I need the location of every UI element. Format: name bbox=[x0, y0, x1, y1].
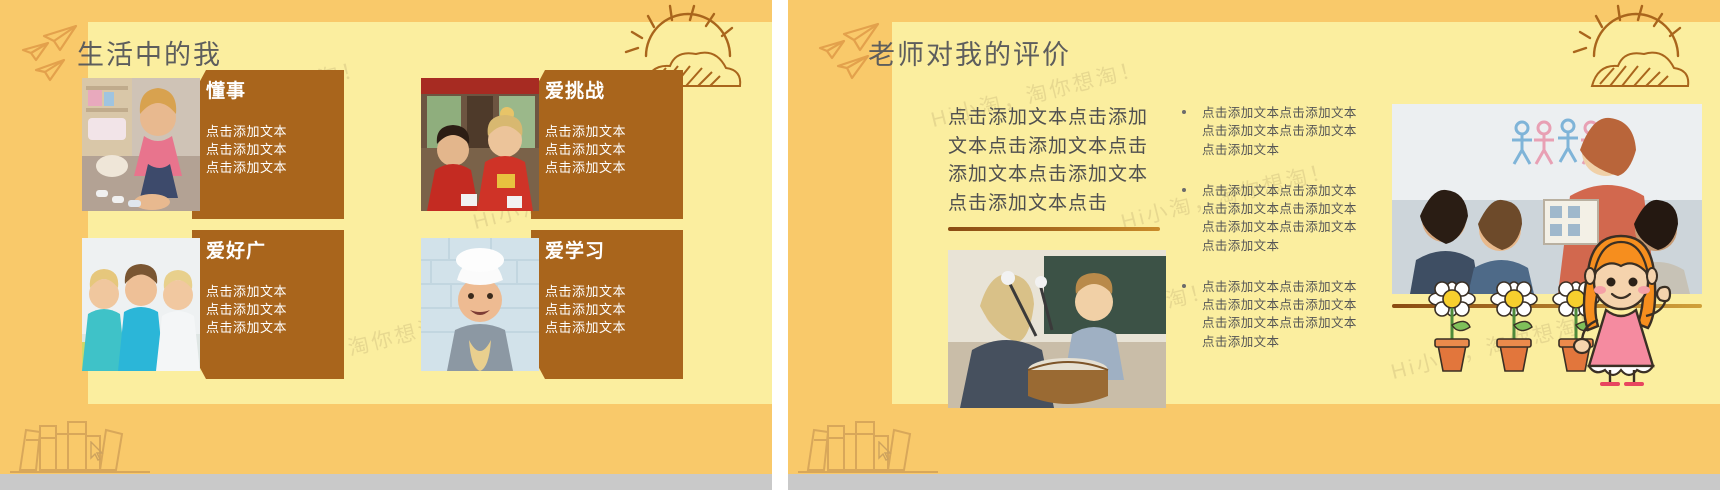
bullet-line: 点击添加文本 bbox=[1202, 237, 1390, 255]
card-text: 爱好广 点击添加文本 点击添加文本 点击添加文本 bbox=[206, 242, 346, 337]
paragraph-line: 点击添加文本点击添加 bbox=[948, 104, 1170, 133]
bullet-line: 点击添加文本点击添加文本 bbox=[1202, 104, 1390, 122]
bullet-line: 点击添加文本点击添加文本 bbox=[1202, 200, 1390, 218]
card-heading: 懂事 bbox=[206, 82, 346, 103]
right-content: 点击添加文本点击添加 文本点击添加文本点击 添加文本点击添加文本 点击添加文本点… bbox=[892, 22, 1720, 404]
boy-chef-hat-photo bbox=[421, 238, 539, 371]
info-card[interactable]: 懂事 点击添加文本 点击添加文本 点击添加文本 bbox=[82, 78, 344, 211]
card-line: 点击添加文本 bbox=[206, 301, 346, 319]
paragraph-line: 点击添加文本点击 bbox=[948, 190, 1170, 219]
card-line: 点击添加文本 bbox=[545, 319, 685, 337]
bullet-line: 点击添加文本点击添加文本 bbox=[1202, 314, 1390, 332]
teacher-boy-drum-photo bbox=[948, 250, 1166, 408]
card-line: 点击添加文本 bbox=[545, 123, 685, 141]
bullet-dot-icon bbox=[1182, 188, 1186, 192]
mouse-cursor-icon bbox=[90, 441, 104, 466]
bullet-line: 点击添加文本 bbox=[1202, 333, 1390, 351]
card-text: 爱学习 点击添加文本 点击添加文本 点击添加文本 bbox=[545, 242, 685, 337]
card-line: 点击添加文本 bbox=[545, 159, 685, 177]
card-heading: 爱学习 bbox=[545, 242, 685, 263]
card-text: 懂事 点击添加文本 点击添加文本 点击添加文本 bbox=[206, 82, 346, 177]
bullet-line: 点击添加文本点击添加文本 bbox=[1202, 182, 1390, 200]
bullet-list: 点击添加文本点击添加文本 点击添加文本点击添加文本 点击添加文本 点击添加文本点… bbox=[1180, 104, 1390, 374]
bullet-line: 点击添加文本点击添加文本 bbox=[1202, 218, 1390, 236]
card-heading: 爱挑战 bbox=[545, 82, 685, 103]
bullet-dot-icon bbox=[1182, 284, 1186, 288]
bullet-line: 点击添加文本 bbox=[1202, 141, 1390, 159]
slide-divider bbox=[772, 0, 788, 490]
card-line: 点击添加文本 bbox=[545, 301, 685, 319]
card-line: 点击添加文本 bbox=[545, 141, 685, 159]
paragraph-line: 添加文本点击添加文本 bbox=[948, 161, 1170, 190]
cartoon-girl-waving-icon bbox=[1558, 226, 1684, 386]
bullet-dot-icon bbox=[1182, 110, 1186, 114]
card-line: 点击添加文本 bbox=[206, 283, 346, 301]
info-card[interactable]: 爱挑战 点击添加文本 点击添加文本 点击添加文本 bbox=[421, 78, 683, 211]
footer-bar bbox=[788, 474, 1720, 490]
two-boys-cards-photo bbox=[421, 78, 539, 211]
list-item[interactable]: 点击添加文本点击添加文本 点击添加文本点击添加文本 点击添加文本 bbox=[1180, 104, 1390, 159]
divider-line bbox=[948, 227, 1160, 231]
intro-paragraph: 点击添加文本点击添加 文本点击添加文本点击 添加文本点击添加文本 点击添加文本点… bbox=[948, 104, 1170, 218]
card-heading: 爱好广 bbox=[206, 242, 346, 263]
stack-of-books-doodle-icon bbox=[10, 396, 210, 474]
list-item[interactable]: 点击添加文本点击添加文本 点击添加文本点击添加文本 点击添加文本点击添加文本 点… bbox=[1180, 182, 1390, 255]
card-line: 点击添加文本 bbox=[206, 123, 346, 141]
three-children-photo bbox=[82, 238, 200, 371]
bullet-line: 点击添加文本点击添加文本 bbox=[1202, 296, 1390, 314]
card-line: 点击添加文本 bbox=[206, 159, 346, 177]
mouse-cursor-icon bbox=[878, 441, 892, 466]
slide-left: Hi小淘，淘你想淘！ Hi小淘，淘你想淘！ Hi小淘，淘你想淘！ 生活中的我 bbox=[0, 0, 772, 490]
girl-playing-blocks-photo bbox=[82, 78, 200, 211]
bullet-line: 点击添加文本点击添加文本 bbox=[1202, 122, 1390, 140]
slide-deck: Hi小淘，淘你想淘！ Hi小淘，淘你想淘！ Hi小淘，淘你想淘！ 生活中的我 bbox=[0, 0, 1720, 490]
footer-bar bbox=[0, 474, 772, 490]
slide-right: Hi小淘，淘你想淘！ Hi小淘，淘你想淘！ Hi小淘，淘你想淘！ Hi小淘，淘你… bbox=[788, 0, 1720, 490]
bullet-line: 点击添加文本点击添加文本 bbox=[1202, 278, 1390, 296]
card-grid: 懂事 点击添加文本 点击添加文本 点击添加文本 bbox=[82, 78, 742, 388]
paragraph-line: 文本点击添加文本点击 bbox=[948, 133, 1170, 162]
page-title: 生活中的我 bbox=[77, 33, 222, 72]
list-item[interactable]: 点击添加文本点击添加文本 点击添加文本点击添加文本 点击添加文本点击添加文本 点… bbox=[1180, 278, 1390, 351]
info-card[interactable]: 爱好广 点击添加文本 点击添加文本 点击添加文本 bbox=[82, 238, 344, 371]
card-line: 点击添加文本 bbox=[206, 141, 346, 159]
info-card[interactable]: 爱学习 点击添加文本 点击添加文本 点击添加文本 bbox=[421, 238, 683, 371]
card-line: 点击添加文本 bbox=[206, 319, 346, 337]
card-line: 点击添加文本 bbox=[545, 283, 685, 301]
card-text: 爱挑战 点击添加文本 点击添加文本 点击添加文本 bbox=[545, 82, 685, 177]
